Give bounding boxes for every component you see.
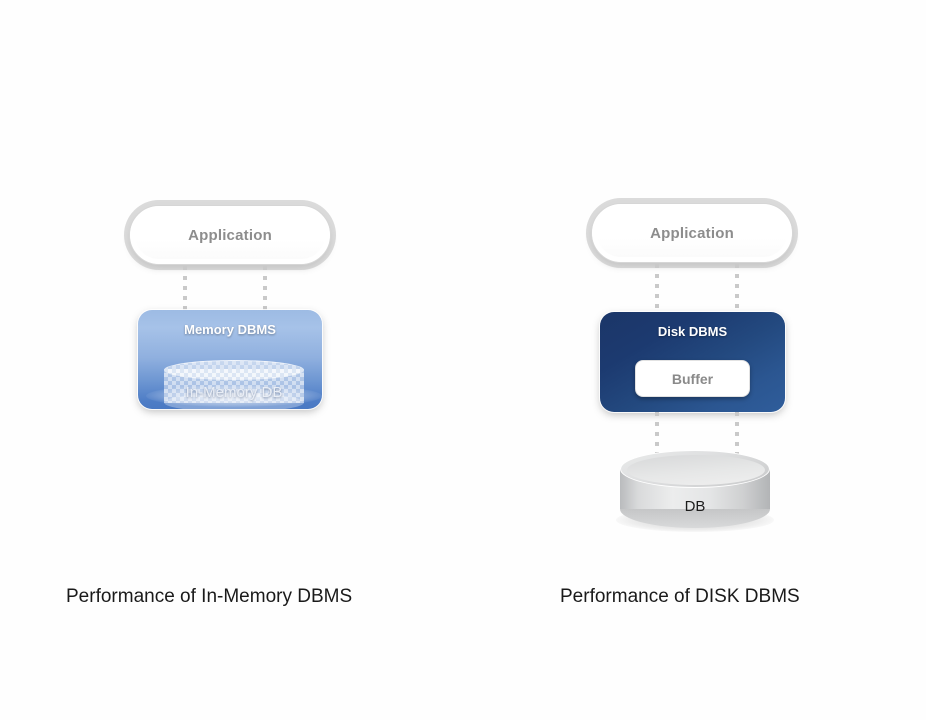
- connector-app-to-dbms-left-1: [183, 266, 187, 312]
- buffer-box: Buffer: [635, 360, 750, 397]
- caption-disk: Performance of DISK DBMS: [560, 586, 800, 608]
- application-label: Application: [188, 227, 272, 244]
- db-top-ellipse: [620, 450, 770, 488]
- application-box-disk: Application: [592, 204, 792, 262]
- panel-disk: Application Disk DBMS Buffer DB Performa…: [463, 0, 926, 720]
- caption-in-memory: Performance of In-Memory DBMS: [66, 586, 352, 608]
- connector-app-to-dbms-right-2: [735, 264, 739, 314]
- diagram-canvas: Application Memory DBMS In-Memory DB Per…: [0, 0, 926, 720]
- memory-dbms-box: Memory DBMS In-Memory DB: [138, 310, 322, 409]
- application-label: Application: [650, 225, 734, 242]
- application-box-in-memory: Application: [130, 206, 330, 264]
- connector-app-to-dbms-right-1: [655, 264, 659, 314]
- db-label: DB: [620, 498, 770, 515]
- panel-in-memory: Application Memory DBMS In-Memory DB Per…: [0, 0, 463, 720]
- buffer-label: Buffer: [672, 371, 713, 387]
- db-top-inner: [627, 455, 765, 485]
- cylinder-top-ellipse: [164, 360, 304, 380]
- in-memory-db-cylinder: In-Memory DB: [164, 360, 304, 409]
- disk-dbms-box: Disk DBMS Buffer: [600, 312, 785, 412]
- disk-dbms-label: Disk DBMS: [600, 324, 785, 339]
- db-cylinder: DB: [620, 450, 770, 528]
- memory-dbms-label: Memory DBMS: [138, 322, 322, 337]
- in-memory-db-label: In-Memory DB: [164, 384, 304, 401]
- connector-app-to-dbms-left-2: [263, 266, 267, 312]
